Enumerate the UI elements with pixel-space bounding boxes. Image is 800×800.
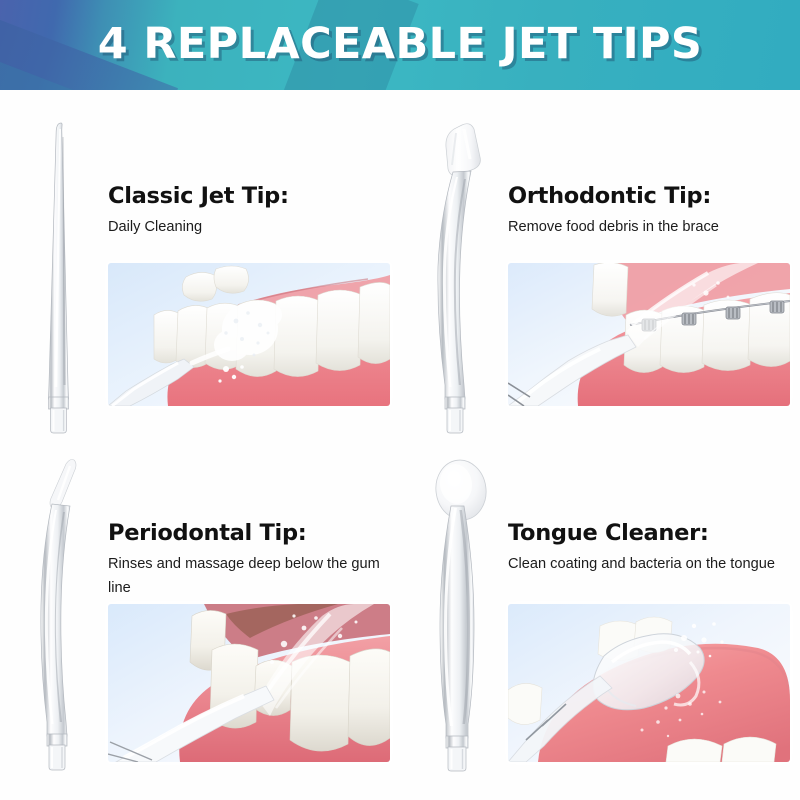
tongue-cleaner-nozzle-icon: [418, 454, 508, 774]
periodontal-tip-heading: Periodontal Tip:: [108, 520, 393, 546]
tip-card-periodontal-tip: Periodontal Tip: Rinses and massage deep…: [0, 432, 400, 787]
product-infographic-page: 4 REPLACEABLE JET TIPS: [0, 0, 800, 800]
periodontal-tip-description: Rinses and massage deep below the gum li…: [108, 553, 393, 600]
classic-jet-tip-nozzle-icon: [18, 117, 108, 437]
orthodontic-tip-heading: Orthodontic Tip:: [508, 183, 793, 209]
orthodontic-tip-photo: [508, 263, 790, 406]
tongue-cleaner-text-block: Tongue Cleaner: Clean coating and bacter…: [508, 520, 793, 577]
orthodontic-tip-description: Remove food debris in the brace: [508, 216, 793, 240]
orthodontic-tip-text-block: Orthodontic Tip: Remove food debris in t…: [508, 183, 793, 240]
classic-jet-tip-description: Daily Cleaning: [108, 216, 393, 240]
periodontal-tip-text-block: Periodontal Tip: Rinses and massage deep…: [108, 520, 393, 600]
page-title: 4 REPLACEABLE JET TIPS: [0, 0, 800, 90]
tongue-cleaner-heading: Tongue Cleaner:: [508, 520, 793, 546]
periodontal-tip-nozzle-icon: [18, 454, 108, 774]
classic-jet-tip-photo: [108, 263, 390, 406]
classic-jet-tip-text-block: Classic Jet Tip: Daily Cleaning: [108, 183, 393, 240]
orthodontic-tip-nozzle-icon: [418, 117, 508, 437]
periodontal-tip-photo: [108, 604, 390, 762]
tongue-cleaner-description: Clean coating and bacteria on the tongue: [508, 553, 793, 577]
tip-card-orthodontic-tip: Orthodontic Tip: Remove food debris in t…: [400, 95, 800, 450]
tip-card-classic-jet-tip: Classic Jet Tip: Daily Cleaning: [0, 95, 400, 450]
tip-card-tongue-cleaner: Tongue Cleaner: Clean coating and bacter…: [400, 432, 800, 787]
tongue-cleaner-photo: [508, 604, 790, 762]
header-banner: 4 REPLACEABLE JET TIPS: [0, 0, 800, 90]
classic-jet-tip-heading: Classic Jet Tip:: [108, 183, 393, 209]
